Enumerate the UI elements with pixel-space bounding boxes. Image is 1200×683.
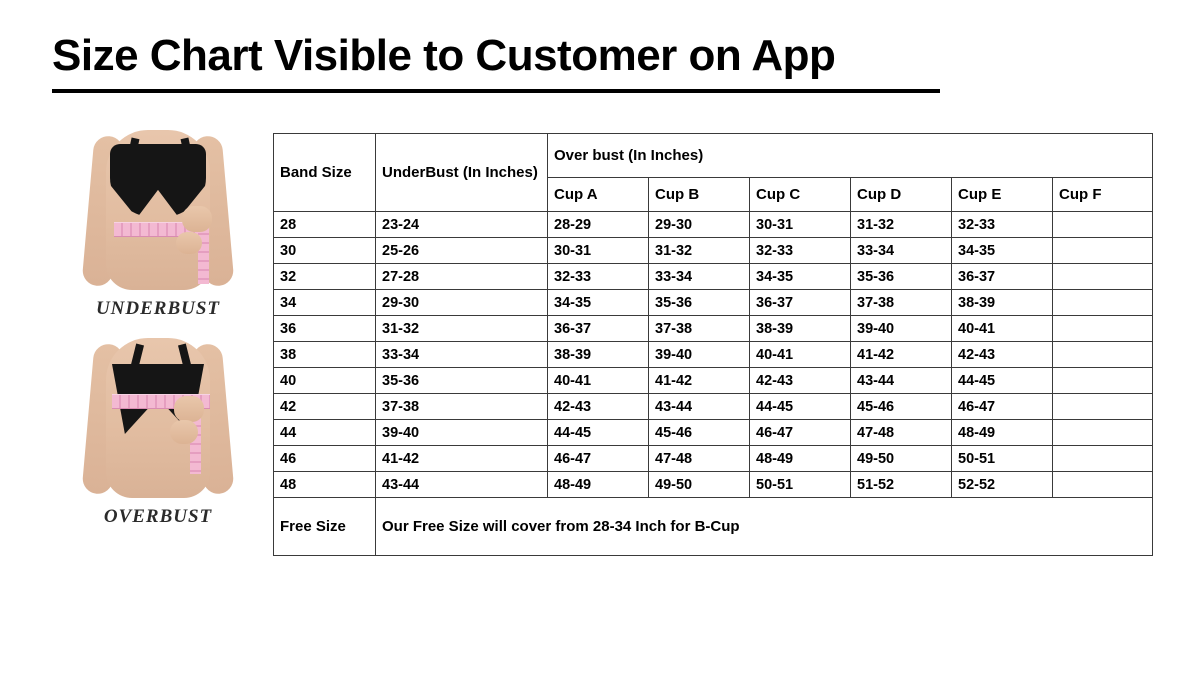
cell-band-size: 38: [274, 342, 376, 368]
cell-cup-f: [1053, 238, 1153, 264]
cell-cup-a: 28-29: [548, 212, 649, 238]
cell-underbust: 33-34: [376, 342, 548, 368]
cell-cup-f: [1053, 472, 1153, 498]
cell-cup-a: 42-43: [548, 394, 649, 420]
cell-cup-d: 43-44: [851, 368, 952, 394]
cell-cup-e: 46-47: [952, 394, 1053, 420]
cell-cup-d: 51-52: [851, 472, 952, 498]
header-cup-cup-d: Cup D: [851, 178, 952, 212]
cell-cup-f: [1053, 264, 1153, 290]
cell-cup-b: 41-42: [649, 368, 750, 394]
cell-cup-b: 31-32: [649, 238, 750, 264]
cell-cup-f: [1053, 316, 1153, 342]
header-cup-cup-b: Cup B: [649, 178, 750, 212]
cell-cup-c: 32-33: [750, 238, 851, 264]
cell-cup-e: 32-33: [952, 212, 1053, 238]
cell-band-size: 32: [274, 264, 376, 290]
underbust-measure-photo: [58, 130, 258, 290]
cell-cup-a: 34-35: [548, 290, 649, 316]
cell-cup-e: 50-51: [952, 446, 1053, 472]
cell-cup-e: 40-41: [952, 316, 1053, 342]
figure-caption-underbust: UNDERBUST: [58, 298, 258, 320]
cell-cup-c: 36-37: [750, 290, 851, 316]
cell-cup-c: 46-47: [750, 420, 851, 446]
cell-cup-f: [1053, 290, 1153, 316]
cell-cup-c: 48-49: [750, 446, 851, 472]
free-size-row: Free SizeOur Free Size will cover from 2…: [274, 498, 1153, 556]
overbust-measure-photo: [58, 338, 258, 498]
table-row: 4641-4246-4747-4848-4949-5050-51: [274, 446, 1153, 472]
cell-cup-c: 50-51: [750, 472, 851, 498]
cell-cup-e: 38-39: [952, 290, 1053, 316]
cell-underbust: 39-40: [376, 420, 548, 446]
cell-band-size: 30: [274, 238, 376, 264]
cell-underbust: 43-44: [376, 472, 548, 498]
table-row: 3833-3438-3939-4040-4141-4242-43: [274, 342, 1153, 368]
cell-cup-e: 48-49: [952, 420, 1053, 446]
cell-cup-a: 32-33: [548, 264, 649, 290]
cell-underbust: 41-42: [376, 446, 548, 472]
cell-cup-c: 44-45: [750, 394, 851, 420]
cell-cup-b: 47-48: [649, 446, 750, 472]
cell-cup-a: 48-49: [548, 472, 649, 498]
cell-underbust: 29-30: [376, 290, 548, 316]
figure-underbust: UNDERBUST: [58, 130, 258, 320]
cell-cup-b: 37-38: [649, 316, 750, 342]
table-row: 3631-3236-3737-3838-3939-4040-41: [274, 316, 1153, 342]
measurement-figures: UNDERBUST OVERBUST: [58, 130, 258, 546]
cell-underbust: 31-32: [376, 316, 548, 342]
cell-band-size: 44: [274, 420, 376, 446]
cell-band-size: 34: [274, 290, 376, 316]
cell-cup-f: [1053, 394, 1153, 420]
cell-cup-d: 41-42: [851, 342, 952, 368]
title-underline: [52, 89, 940, 93]
cell-cup-b: 39-40: [649, 342, 750, 368]
table-row: 2823-2428-2929-3030-3131-3232-33: [274, 212, 1153, 238]
table-row: 4843-4448-4949-5050-5151-5252-52: [274, 472, 1153, 498]
cell-cup-d: 37-38: [851, 290, 952, 316]
cell-cup-c: 42-43: [750, 368, 851, 394]
cell-cup-d: 35-36: [851, 264, 952, 290]
cell-cup-a: 36-37: [548, 316, 649, 342]
cell-underbust: 35-36: [376, 368, 548, 394]
cell-cup-d: 47-48: [851, 420, 952, 446]
page-title: Size Chart Visible to Customer on App: [52, 34, 835, 78]
cell-cup-b: 49-50: [649, 472, 750, 498]
cell-band-size: 28: [274, 212, 376, 238]
header-cup-cup-a: Cup A: [548, 178, 649, 212]
cell-cup-f: [1053, 446, 1153, 472]
table-header-row-primary: Band SizeUnderBust (In Inches)Over bust …: [274, 134, 1153, 178]
table-row: 4439-4044-4545-4646-4747-4848-49: [274, 420, 1153, 446]
table-row: 3025-2630-3131-3232-3333-3434-35: [274, 238, 1153, 264]
table-row: 3227-2832-3333-3434-3535-3636-37: [274, 264, 1153, 290]
size-chart-table-container: Band SizeUnderBust (In Inches)Over bust …: [273, 133, 1152, 556]
header-cup-cup-e: Cup E: [952, 178, 1053, 212]
cell-band-size: 36: [274, 316, 376, 342]
cell-cup-c: 30-31: [750, 212, 851, 238]
cell-cup-d: 49-50: [851, 446, 952, 472]
header-underbust: UnderBust (In Inches): [376, 134, 548, 212]
free-size-note: Our Free Size will cover from 28-34 Inch…: [376, 498, 1153, 556]
cell-cup-c: 40-41: [750, 342, 851, 368]
cell-cup-e: 34-35: [952, 238, 1053, 264]
cell-cup-a: 38-39: [548, 342, 649, 368]
header-overbust: Over bust (In Inches): [548, 134, 1153, 178]
cell-cup-c: 38-39: [750, 316, 851, 342]
cell-band-size: 46: [274, 446, 376, 472]
cell-cup-e: 52-52: [952, 472, 1053, 498]
cell-cup-c: 34-35: [750, 264, 851, 290]
cell-cup-f: [1053, 342, 1153, 368]
cell-band-size: 48: [274, 472, 376, 498]
table-row: 4237-3842-4343-4444-4545-4646-47: [274, 394, 1153, 420]
cell-cup-b: 43-44: [649, 394, 750, 420]
cell-underbust: 27-28: [376, 264, 548, 290]
free-size-label: Free Size: [274, 498, 376, 556]
table-row: 4035-3640-4141-4242-4343-4444-45: [274, 368, 1153, 394]
cell-band-size: 40: [274, 368, 376, 394]
cell-cup-a: 30-31: [548, 238, 649, 264]
cell-cup-e: 36-37: [952, 264, 1053, 290]
table-row: 3429-3034-3535-3636-3737-3838-39: [274, 290, 1153, 316]
cell-cup-d: 31-32: [851, 212, 952, 238]
cell-cup-d: 45-46: [851, 394, 952, 420]
cell-cup-d: 39-40: [851, 316, 952, 342]
cell-cup-a: 40-41: [548, 368, 649, 394]
cell-cup-a: 46-47: [548, 446, 649, 472]
cell-cup-a: 44-45: [548, 420, 649, 446]
cell-cup-b: 33-34: [649, 264, 750, 290]
figure-caption-overbust: OVERBUST: [58, 506, 258, 528]
cell-cup-e: 44-45: [952, 368, 1053, 394]
cell-underbust: 37-38: [376, 394, 548, 420]
figure-overbust: OVERBUST: [58, 338, 258, 528]
header-band-size: Band Size: [274, 134, 376, 212]
cell-cup-f: [1053, 420, 1153, 446]
cell-underbust: 25-26: [376, 238, 548, 264]
cell-cup-b: 45-46: [649, 420, 750, 446]
cell-cup-b: 35-36: [649, 290, 750, 316]
header-cup-cup-c: Cup C: [750, 178, 851, 212]
cell-band-size: 42: [274, 394, 376, 420]
cell-underbust: 23-24: [376, 212, 548, 238]
cell-cup-f: [1053, 368, 1153, 394]
cell-cup-f: [1053, 212, 1153, 238]
cell-cup-b: 29-30: [649, 212, 750, 238]
cell-cup-d: 33-34: [851, 238, 952, 264]
header-cup-cup-f: Cup F: [1053, 178, 1153, 212]
size-chart-table: Band SizeUnderBust (In Inches)Over bust …: [273, 133, 1153, 556]
cell-cup-e: 42-43: [952, 342, 1053, 368]
